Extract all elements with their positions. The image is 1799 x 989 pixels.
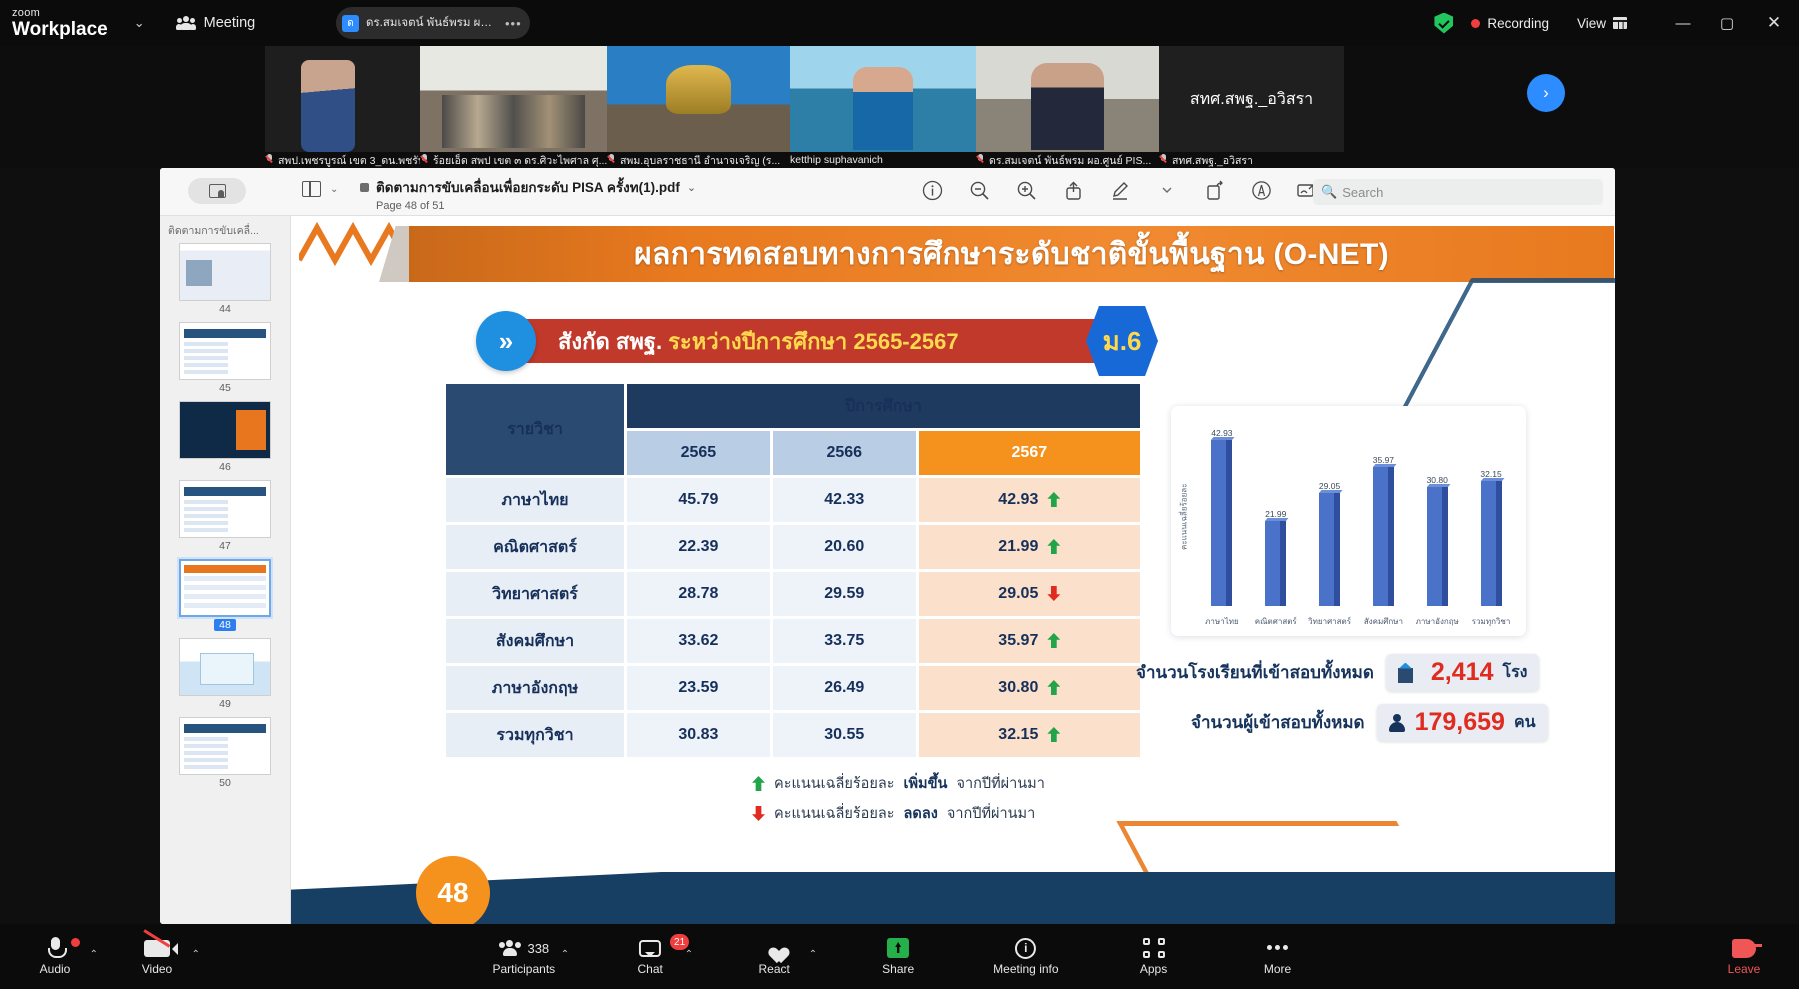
score-2567: 42.93 <box>998 491 1038 508</box>
trend-down-icon <box>752 806 765 821</box>
microphone-muted-icon <box>265 154 274 166</box>
chart-x-tick-label: วิทยาศาสตร์ <box>1303 615 1357 628</box>
subject-name: คณิตศาสตร์ <box>446 525 624 569</box>
chat-unread-badge: 21 <box>670 934 689 950</box>
pdf-tool-icons <box>920 178 1320 202</box>
trend-down-icon <box>1047 586 1060 601</box>
legend-up-text-b: เพิ่มขึ้น <box>904 772 948 795</box>
react-button[interactable]: React ⌃ <box>745 937 803 976</box>
subject-name: วิทยาศาสตร์ <box>446 572 624 616</box>
stat-examinees: จำนวนผู้เข้าสอบทั้งหมด 179,659 คน <box>1191 704 1548 741</box>
more-button[interactable]: More <box>1249 937 1307 976</box>
score-2567: 32.15 <box>998 726 1038 743</box>
pdf-search-box[interactable]: 🔍 Search <box>1313 179 1603 205</box>
score-2567: 29.05 <box>998 585 1038 602</box>
chart-x-tick-label: ภาษาไทย <box>1195 615 1249 628</box>
view-label: View <box>1577 16 1606 31</box>
thumbnail-item[interactable]: 44 <box>160 243 290 315</box>
info-icon[interactable] <box>920 178 944 202</box>
subject-column-header: รายวิชา <box>446 384 624 475</box>
thumbnail-item[interactable]: 50 <box>160 717 290 789</box>
stat-schools: จำนวนโรงเรียนที่เข้าสอบทั้งหมด 2,414 โรง <box>1136 654 1539 691</box>
thumbnail-item-selected[interactable]: 48 <box>160 559 290 631</box>
meeting-info-label: Meeting info <box>993 962 1058 976</box>
score-2565: 22.39 <box>627 525 770 569</box>
score-2567: 35.97 <box>998 632 1038 649</box>
participants-label: Participants <box>492 962 555 976</box>
share-screen-button[interactable]: Share <box>869 937 927 976</box>
zoom-logo: zoom Workplace <box>12 8 108 39</box>
thumbnail-page-number: 48 <box>214 619 236 631</box>
leave-button[interactable]: Leave <box>1715 937 1773 976</box>
presenter-view-icon <box>209 184 226 198</box>
people-icon <box>498 940 520 956</box>
document-menu-chevron-icon[interactable]: ⌄ <box>687 181 696 194</box>
meeting-tab[interactable]: Meeting <box>177 15 256 31</box>
thumbnail-item[interactable]: 47 <box>160 480 290 552</box>
chart-bar <box>1319 493 1340 606</box>
chart-bar <box>1481 481 1502 606</box>
chart-bar <box>1211 440 1232 606</box>
score-2567-cell: 42.93 <box>919 478 1140 522</box>
slide-48: ผลการทดสอบทางการศึกษาระดับชาติขั้นพื้นฐา… <box>291 216 1615 924</box>
slide-title-banner: ผลการทดสอบทางการศึกษาระดับชาติขั้นพื้นฐา… <box>409 226 1614 282</box>
score-2567-cell: 30.80 <box>919 666 1140 710</box>
score-2567-cell: 21.99 <box>919 525 1140 569</box>
score-2567: 21.99 <box>998 538 1038 555</box>
table-row: รวมทุกวิชา 30.83 30.55 32.15 <box>446 713 1140 757</box>
year-header-2565: 2565 <box>627 431 770 475</box>
audio-caret-icon[interactable]: ⌃ <box>90 949 98 960</box>
pdf-toolbar: ⌄ ติดตามการขับเคลื่อนเพื่อยกระดับ PISA ค… <box>160 168 1615 216</box>
affiliation-band: สังกัด สพฐ. ระหว่างปีการศึกษา 2565-2567 <box>516 319 1101 363</box>
stat-schools-label: จำนวนโรงเรียนที่เข้าสอบทั้งหมด <box>1136 659 1374 686</box>
score-2566: 33.75 <box>773 619 916 663</box>
legend-item-down: คะแนนเฉลี่ยร้อยละ ลดลงจากปีที่ผ่านมา <box>743 802 1045 825</box>
score-2566: 26.49 <box>773 666 916 710</box>
year-header-2567: 2567 <box>919 431 1140 475</box>
apps-label: Apps <box>1140 962 1167 976</box>
chat-caret-icon[interactable]: ⌃ <box>685 949 693 960</box>
minimize-button[interactable]: — <box>1661 0 1705 46</box>
participant-name: ดร.สมเจตน์ พันธ์พรม ผอ.ศูนย์ PIS... <box>976 152 1159 168</box>
thumbnail-page-number: 46 <box>219 461 231 473</box>
participant-name: ร้อยเอ็ด สพป เขต ๓ ดร.ศิวะไพศาล ศุ... <box>420 152 607 168</box>
microphone-muted-icon <box>607 154 616 166</box>
participants-button[interactable]: 338 Participants ⌃ <box>492 937 555 976</box>
share-screen-icon <box>887 937 909 959</box>
participant-name-label: ดร.สมเจตน์ พันธ์พรม ผอ.ศูนย์ PIS... <box>989 152 1151 168</box>
stat-schools-pill: 2,414 โรง <box>1386 654 1540 691</box>
thumbnail-page-number: 49 <box>219 698 231 710</box>
pdf-page-canvas: ผลการทดสอบทางการศึกษาระดับชาติขั้นพื้นฐา… <box>291 216 1615 924</box>
share-icon[interactable] <box>1061 178 1085 202</box>
score-2567: 30.80 <box>998 679 1038 696</box>
table-row: วิทยาศาสตร์ 28.78 29.59 29.05 <box>446 572 1140 616</box>
video-tiles: สทศ.สพฐ._อวิสรา <box>265 46 1344 152</box>
score-2566: 30.55 <box>773 713 916 757</box>
page-status: Page 48 of 51 <box>376 200 696 212</box>
brand-line-1: zoom <box>12 8 108 19</box>
more-dots-icon <box>1267 937 1289 959</box>
table-header-row-1: รายวิชา ปีการศึกษา <box>446 384 1140 428</box>
avatar-display-name: สทศ.สพฐ._อวิสรา <box>1190 87 1313 112</box>
chart-bar-group: 32.15 <box>1472 420 1510 606</box>
legend-down-text-a: คะแนนเฉลี่ยร้อยละ <box>774 802 895 825</box>
video-button[interactable]: Video ⌃ <box>128 937 186 976</box>
thumbnail-item[interactable]: 45 <box>160 322 290 394</box>
stat-schools-value: 2,414 <box>1431 658 1494 687</box>
thumbnail-item[interactable]: 49 <box>160 638 290 710</box>
control-group-center: 338 Participants ⌃ 21 Chat ⌃ React ⌃ <box>492 937 1306 976</box>
more-options-icon[interactable]: ••• <box>505 17 522 30</box>
chart-bar-group: 29.05 <box>1311 420 1349 606</box>
sidebar-toggle[interactable]: ⌄ <box>302 181 338 197</box>
thumbnail-page-number: 44 <box>219 303 231 315</box>
legend-up-text-c: จากปีที่ผ่านมา <box>956 772 1044 795</box>
control-group-left: Audio ⌃ Video ⌃ <box>26 937 186 976</box>
react-label: React <box>758 962 789 976</box>
encryption-shield-icon[interactable] <box>1434 13 1453 34</box>
stat-schools-unit: โรง <box>1502 660 1527 685</box>
trend-up-icon <box>1047 727 1060 742</box>
score-2566: 29.59 <box>773 572 916 616</box>
microphone-muted-icon <box>1159 154 1168 166</box>
video-tile-active[interactable] <box>790 46 976 152</box>
chat-icon-group: 21 <box>639 937 661 959</box>
shared-pdf-viewer: ⌄ ติดตามการขับเคลื่อนเพื่อยกระดับ PISA ค… <box>160 168 1615 924</box>
participant-name-label: ร้อยเอ็ด สพป เขต ๓ ดร.ศิวะไพศาล ศุ... <box>433 152 607 168</box>
audio-label: Audio <box>40 962 71 976</box>
chart-y-axis-label: คะแนนเฉลี่ยร้อยละ <box>1177 452 1191 582</box>
score-2567-cell: 35.97 <box>919 619 1140 663</box>
chevron-down-icon: ⌄ <box>330 184 338 195</box>
video-tile[interactable] <box>265 46 420 152</box>
more-label: More <box>1264 962 1291 976</box>
participant-name-label: สทศ.สพฐ._อวิสรา <box>1172 152 1253 168</box>
chart-bar <box>1427 487 1448 606</box>
score-2565: 23.59 <box>627 666 770 710</box>
participant-name-label: สพป.เพชรบูรณ์ เขต 3_ดน.พชรันทร <box>278 152 420 168</box>
participant-video-strip: สทศ.สพฐ._อวิสรา สพป.เพชรบูรณ์ เขต 3_ดน.พ… <box>0 46 1799 168</box>
react-caret-icon[interactable]: ⌃ <box>809 949 817 960</box>
sidebar-panel-icon <box>302 181 321 197</box>
recording-indicator[interactable]: Recording <box>1471 16 1549 31</box>
maximize-button[interactable]: ▢ <box>1705 0 1749 46</box>
chat-button[interactable]: 21 Chat ⌃ <box>621 937 679 976</box>
chart-bar <box>1265 521 1286 606</box>
chart-bar-group: 21.99 <box>1257 420 1295 606</box>
thumbnail-page-number: 45 <box>219 382 231 394</box>
search-icon: 🔍 <box>1321 184 1337 200</box>
microphone-muted-icon <box>420 154 429 166</box>
participant-name-row: สพป.เพชรบูรณ์ เขต 3_ดน.พชรันทร ร้อยเอ็ด … <box>265 152 1344 168</box>
leave-label: Leave <box>1728 962 1761 976</box>
video-label: Video <box>142 962 172 976</box>
trend-up-icon <box>752 776 765 791</box>
recording-label: Recording <box>1487 16 1549 31</box>
next-participants-button[interactable]: › <box>1527 74 1565 112</box>
chart-x-axis-labels: ภาษาไทยคณิตศาสตร์วิทยาศาสตร์สังคมศึกษาภา… <box>1195 615 1518 628</box>
stat-examinees-pill: 179,659 คน <box>1377 704 1548 741</box>
microphone-muted-icon <box>976 154 985 166</box>
chart-bar-group: 35.97 <box>1364 420 1402 606</box>
chat-icon <box>639 940 661 957</box>
meeting-info-button[interactable]: i Meeting info <box>993 937 1058 976</box>
video-tile[interactable] <box>420 46 607 152</box>
recording-dot-icon <box>1471 19 1480 28</box>
meeting-control-bar: Audio ⌃ Video ⌃ 338 Participants ⌃ <box>0 924 1799 989</box>
table-row: ภาษาไทย 45.79 42.33 42.93 <box>446 478 1140 522</box>
stat-examinees-unit: คน <box>1514 710 1536 735</box>
control-group-right: Leave <box>1715 937 1773 976</box>
zoom-in-icon[interactable] <box>1014 178 1038 202</box>
slide-page-number: 48 <box>416 856 490 924</box>
thumbnail-page-number: 50 <box>219 777 231 789</box>
annotate-icon[interactable] <box>1249 178 1273 202</box>
participant-name: ketthip suphavanich <box>790 152 976 168</box>
participants-icon-group: 338 <box>498 937 549 959</box>
search-placeholder: Search <box>1342 185 1383 200</box>
window-titlebar: zoom Workplace ⌄ Meeting ด ดร.สมเจตน์ พั… <box>0 0 1799 46</box>
chevron-badge-icon: » <box>476 311 536 371</box>
document-title-block: ติดตามการขับเคลื่อนเพื่อยกระดับ PISA ครั… <box>360 176 696 212</box>
share-avatar: ด <box>342 15 359 32</box>
year-group-header: ปีการศึกษา <box>627 384 1140 428</box>
school-icon <box>1398 663 1422 683</box>
score-2566: 42.33 <box>773 478 916 522</box>
legend-item-up: คะแนนเฉลี่ยร้อยละ เพิ่มขึ้นจากปีที่ผ่านม… <box>743 772 1045 795</box>
subject-name: รวมทุกวิชา <box>446 713 624 757</box>
trend-legend: คะแนนเฉลี่ยร้อยละ เพิ่มขึ้นจากปีที่ผ่านม… <box>743 772 1045 832</box>
trend-up-icon <box>1047 492 1060 507</box>
info-icon: i <box>1015 937 1036 959</box>
audio-badge <box>71 938 80 947</box>
share-label: Share <box>882 962 914 976</box>
onet-bar-chart: คะแนนเฉลี่ยร้อยละ 42.9321.9929.0535.9730… <box>1171 406 1526 636</box>
reactions-heart-icon <box>765 937 784 959</box>
chat-label: Chat <box>637 962 662 976</box>
thumbnail-sidebar-header: ติดตามการขับเคลื่... <box>160 216 290 243</box>
chart-plot-area: 42.9321.9929.0535.9730.8032.15 <box>1195 420 1518 606</box>
people-icon <box>177 16 195 30</box>
year-header-2566: 2566 <box>773 431 916 475</box>
subject-name: ภาษาอังกฤษ <box>446 666 624 710</box>
brand-line-2: Workplace <box>12 20 108 39</box>
grade-badge: ม.6 <box>1086 306 1158 376</box>
view-mode-chip[interactable] <box>188 178 246 204</box>
share-tab-label: ดร.สมเจตน์ พันธ์พรม ผอ.ศูนย์ PISA ส.. <box>366 14 498 32</box>
stat-examinees-value: 179,659 <box>1415 708 1505 737</box>
score-2565: 30.83 <box>627 713 770 757</box>
document-icon <box>360 183 369 192</box>
chart-bar-group: 30.80 <box>1418 420 1456 606</box>
table-row: สังคมศึกษา 33.62 33.75 35.97 <box>446 619 1140 663</box>
brand-chevron-down-icon[interactable]: ⌄ <box>134 15 145 31</box>
document-title: ติดตามการขับเคลื่อนเพื่อยกระดับ PISA ครั… <box>376 176 680 198</box>
zoom-meeting-window: zoom Workplace ⌄ Meeting ด ดร.สมเจตน์ พั… <box>0 0 1799 989</box>
score-2567-cell: 32.15 <box>919 713 1140 757</box>
person-icon <box>1389 713 1406 733</box>
table-row: คณิตศาสตร์ 22.39 20.60 21.99 <box>446 525 1140 569</box>
chart-bar-group: 42.93 <box>1203 420 1241 606</box>
onet-score-table: รายวิชา ปีการศึกษา 2565 2566 2567 ภาษาไท… <box>443 381 1143 760</box>
video-tile[interactable] <box>607 46 790 152</box>
video-tile-avatar[interactable]: สทศ.สพฐ._อวิสรา <box>1159 46 1344 152</box>
participant-name-label: ketthip suphavanich <box>790 154 883 166</box>
table-row: ภาษาอังกฤษ 23.59 26.49 30.80 <box>446 666 1140 710</box>
legend-up-text-a: คะแนนเฉลี่ยร้อยละ <box>774 772 895 795</box>
legend-down-text-b: ลดลง <box>904 802 938 825</box>
participants-caret-icon[interactable]: ⌃ <box>561 949 569 960</box>
score-2566: 20.60 <box>773 525 916 569</box>
grid-view-icon <box>1613 17 1627 29</box>
stat-examinees-label: จำนวนผู้เข้าสอบทั้งหมด <box>1191 709 1365 736</box>
participant-name: สทศ.สพฐ._อวิสรา <box>1159 152 1344 168</box>
academic-years-label: ระหว่างปีการศึกษา 2565-2567 <box>668 324 959 359</box>
participant-name-label: สพม.อุบลราชธานี อำนาจเจริญ (ร... <box>620 152 780 168</box>
apps-icon <box>1143 937 1165 959</box>
meeting-tab-label: Meeting <box>204 15 256 31</box>
microphone-icon <box>47 937 64 959</box>
chart-x-tick-label: สังคมศึกษา <box>1356 615 1410 628</box>
zoom-out-icon[interactable] <box>967 178 991 202</box>
score-2565: 33.62 <box>627 619 770 663</box>
participant-name: สพป.เพชรบูรณ์ เขต 3_ดน.พชรันทร <box>265 152 420 168</box>
trend-up-icon <box>1047 633 1060 648</box>
video-tile[interactable] <box>976 46 1159 152</box>
chevron-down-icon[interactable] <box>1155 178 1179 202</box>
trend-up-icon <box>1047 680 1060 695</box>
chart-x-tick-label: รวมทุกวิชา <box>1464 615 1518 628</box>
subject-name: ภาษาไทย <box>446 478 624 522</box>
score-2565: 28.78 <box>627 572 770 616</box>
view-button[interactable]: View <box>1577 16 1627 31</box>
rotate-icon[interactable] <box>1202 178 1226 202</box>
score-2567-cell: 29.05 <box>919 572 1140 616</box>
thumbnail-item[interactable]: 46 <box>160 401 290 473</box>
thumbnail-page-number: 47 <box>219 540 231 552</box>
chart-x-tick-label: คณิตศาสตร์ <box>1249 615 1303 628</box>
affiliation-label: สังกัด สพฐ. <box>558 324 662 359</box>
chart-bars: 42.9321.9929.0535.9730.8032.15 <box>1195 420 1518 606</box>
slide-title: ผลการทดสอบทางการศึกษาระดับชาติขั้นพื้นฐา… <box>634 231 1389 278</box>
leave-icon <box>1732 937 1756 959</box>
participant-name: สพม.อุบลราชธานี อำนาจเจริญ (ร... <box>607 152 790 168</box>
apps-button[interactable]: Apps <box>1125 937 1183 976</box>
subject-name: สังคมศึกษา <box>446 619 624 663</box>
score-2565: 45.79 <box>627 478 770 522</box>
chart-x-tick-label: ภาษาอังกฤษ <box>1410 615 1464 628</box>
participants-count: 338 <box>527 941 549 956</box>
camera-off-icon <box>144 937 170 959</box>
trend-up-icon <box>1047 539 1060 554</box>
close-button[interactable]: ✕ <box>1749 0 1799 46</box>
video-caret-icon[interactable]: ⌃ <box>192 949 200 960</box>
chart-bar <box>1373 467 1394 606</box>
audio-button[interactable]: Audio ⌃ <box>26 937 84 976</box>
titlebar-right-group: Recording View — ▢ ✕ <box>1434 0 1799 46</box>
pdf-thumbnail-sidebar[interactable]: ติดตามการขับเคลื่... 44 45 46 47 48 49 5… <box>160 216 291 924</box>
shared-screen-tab[interactable]: ด ดร.สมเจตน์ พันธ์พรม ผอ.ศูนย์ PISA ส.. … <box>336 7 530 39</box>
legend-down-text-c: จากปีที่ผ่านมา <box>947 802 1035 825</box>
highlight-icon[interactable] <box>1108 178 1132 202</box>
